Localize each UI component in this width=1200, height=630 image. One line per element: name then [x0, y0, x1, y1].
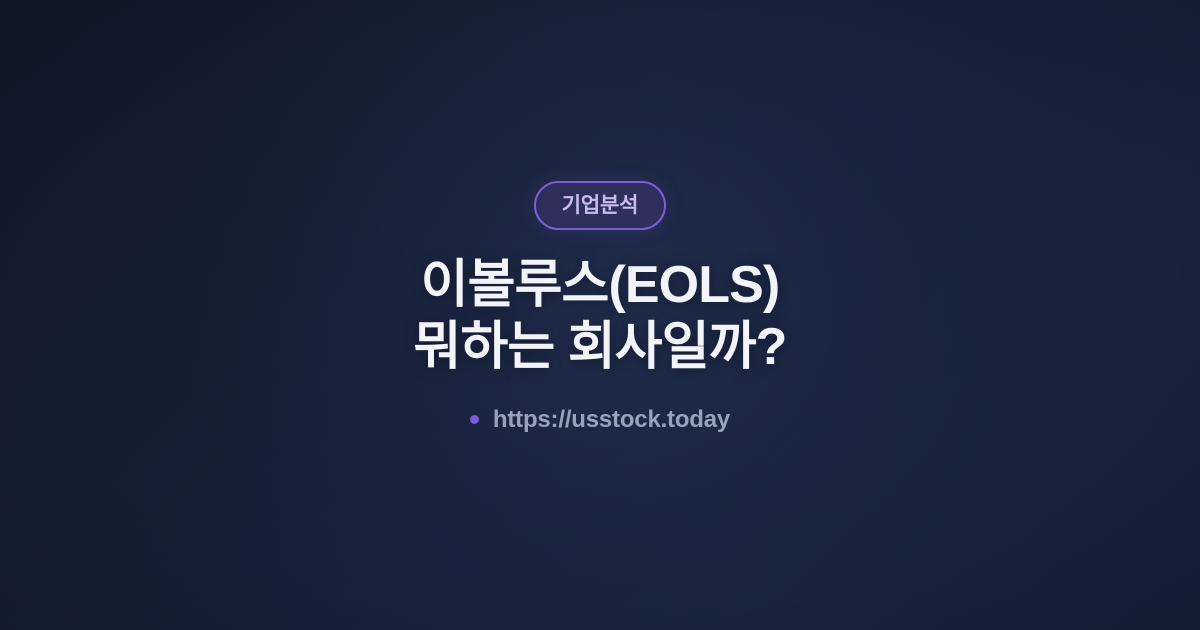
category-badge: 기업분석 — [534, 181, 666, 230]
card-content: 기업분석 이볼루스(EOLS) 뭐하는 회사일까? https://usstoc… — [0, 0, 1200, 630]
site-url-label: https://usstock.today — [493, 408, 730, 432]
page-title-line-2: 뭐하는 회사일까? — [414, 316, 787, 378]
site-url-row: https://usstock.today — [470, 408, 730, 432]
og-share-card: 기업분석 이볼루스(EOLS) 뭐하는 회사일까? https://usstoc… — [0, 0, 1200, 630]
bullet-dot-icon — [470, 415, 479, 424]
page-title: 이볼루스(EOLS) 뭐하는 회사일까? — [414, 254, 787, 378]
page-title-line-1: 이볼루스(EOLS) — [414, 254, 787, 316]
